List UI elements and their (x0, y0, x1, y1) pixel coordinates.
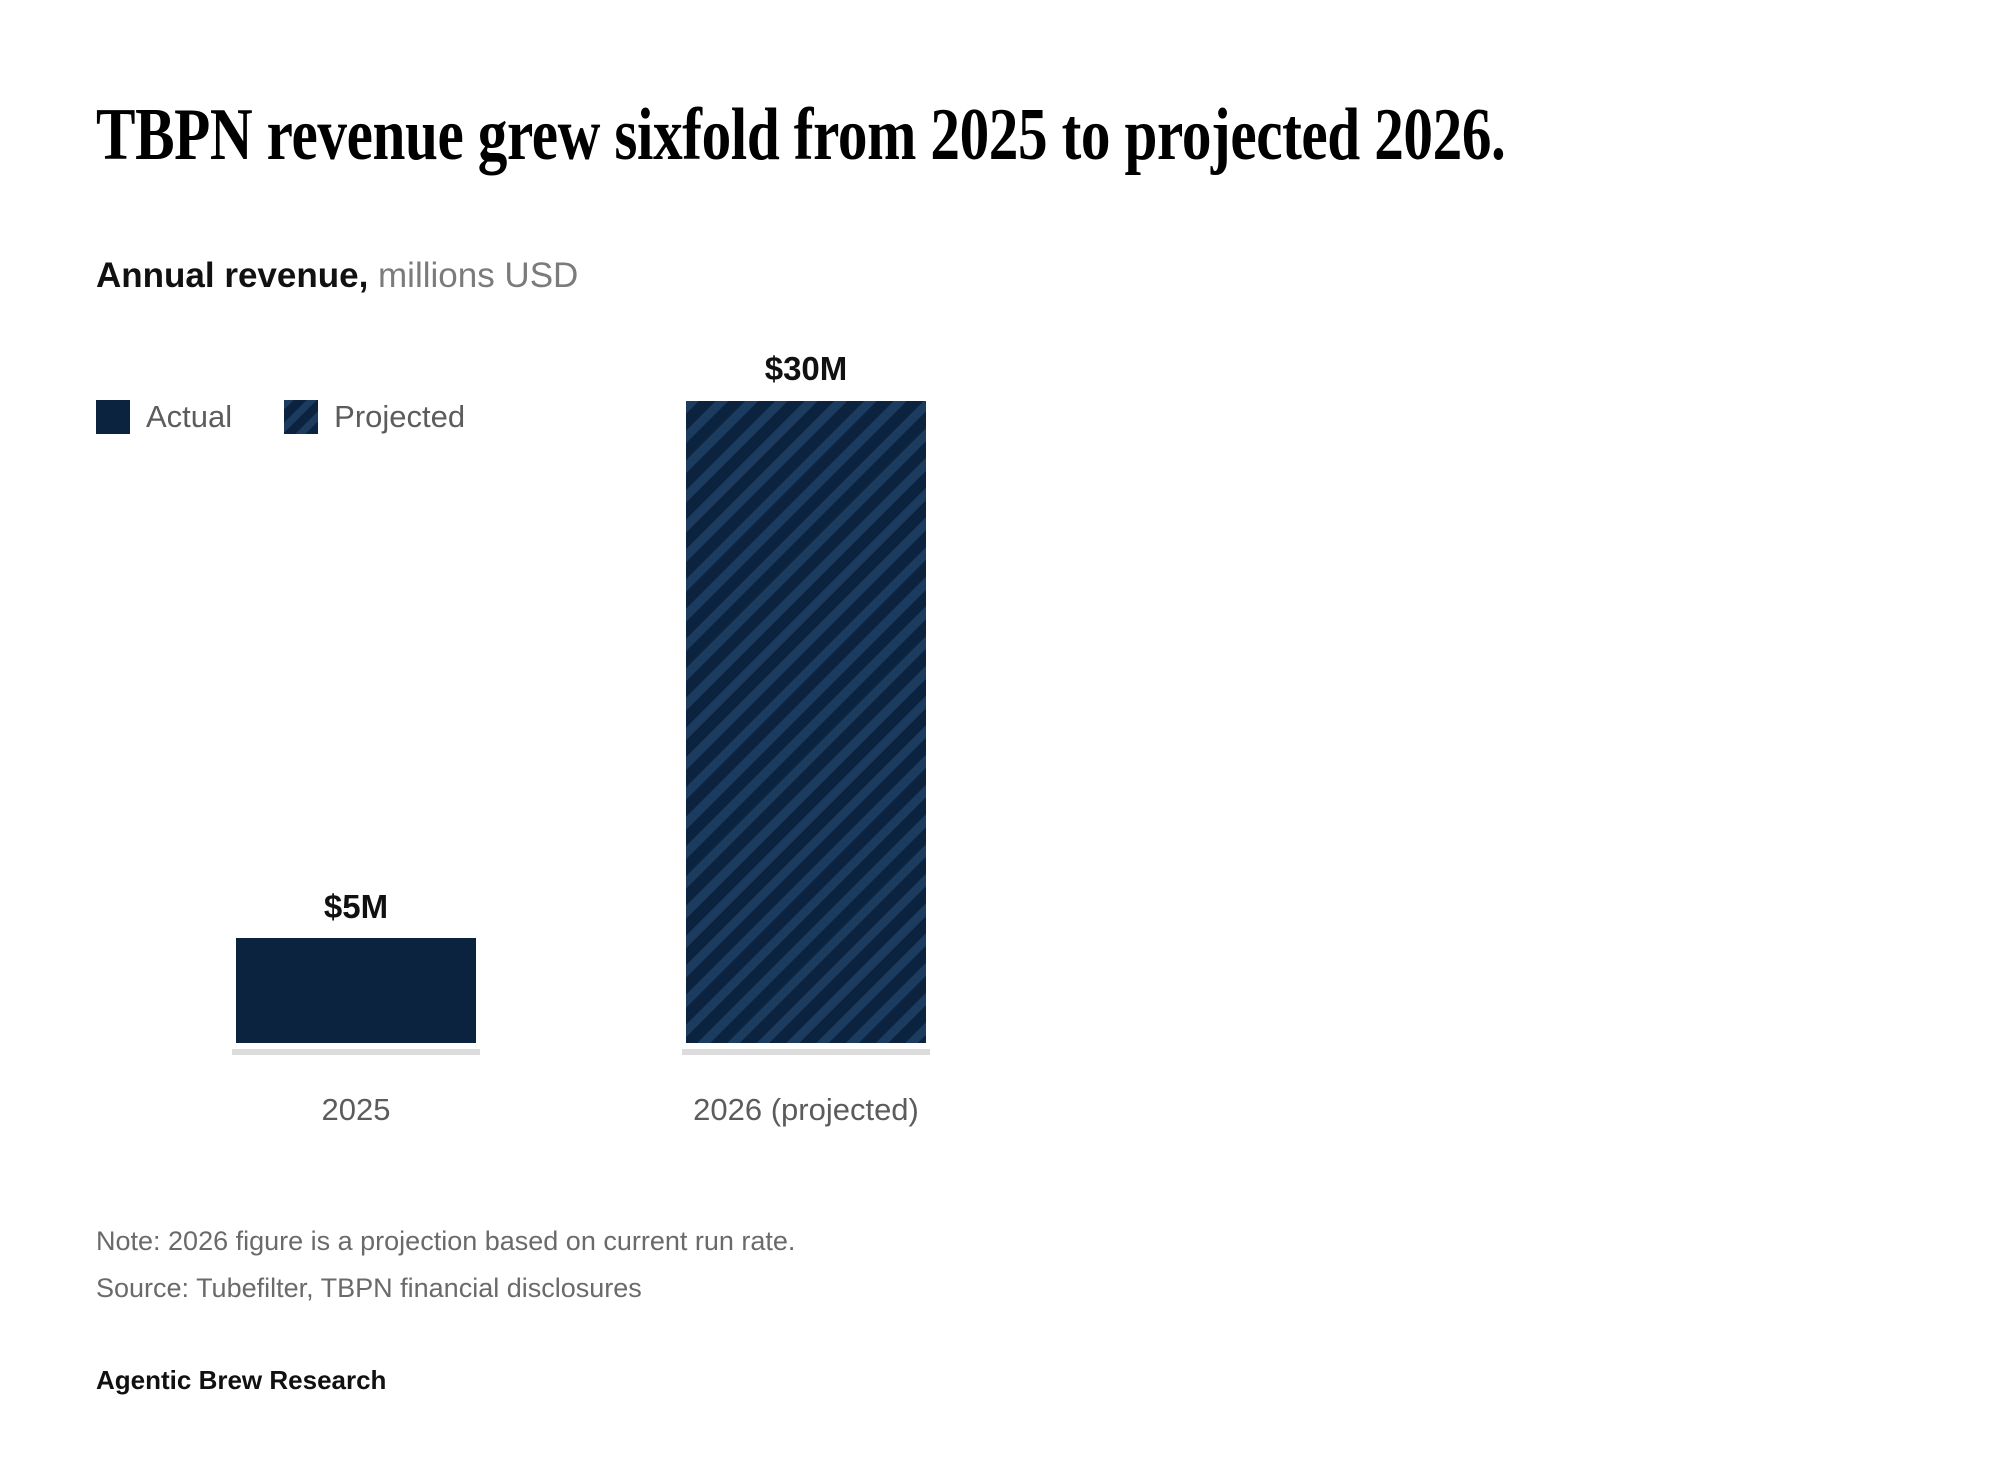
publisher-credit: Agentic Brew Research (96, 1365, 386, 1396)
footnote-note: Note: 2026 figure is a projection based … (96, 1218, 795, 1265)
chart-footnotes: Note: 2026 figure is a projection based … (96, 1218, 795, 1312)
bar-2025[interactable] (236, 938, 476, 1043)
category-label-2026: 2026 (projected) (646, 1092, 966, 1128)
bar-value-2026: $30M (686, 350, 926, 388)
category-label-2025: 2025 (196, 1092, 516, 1128)
chart-canvas: TBPN revenue grew sixfold from 2025 to p… (0, 0, 2000, 1458)
bar-value-2025: $5M (236, 888, 476, 926)
baseline-tick-2025 (232, 1049, 480, 1055)
baseline-tick-2026 (682, 1049, 930, 1055)
bar-2026[interactable] (686, 401, 926, 1043)
footnote-source: Source: Tubefilter, TBPN financial discl… (96, 1265, 795, 1312)
